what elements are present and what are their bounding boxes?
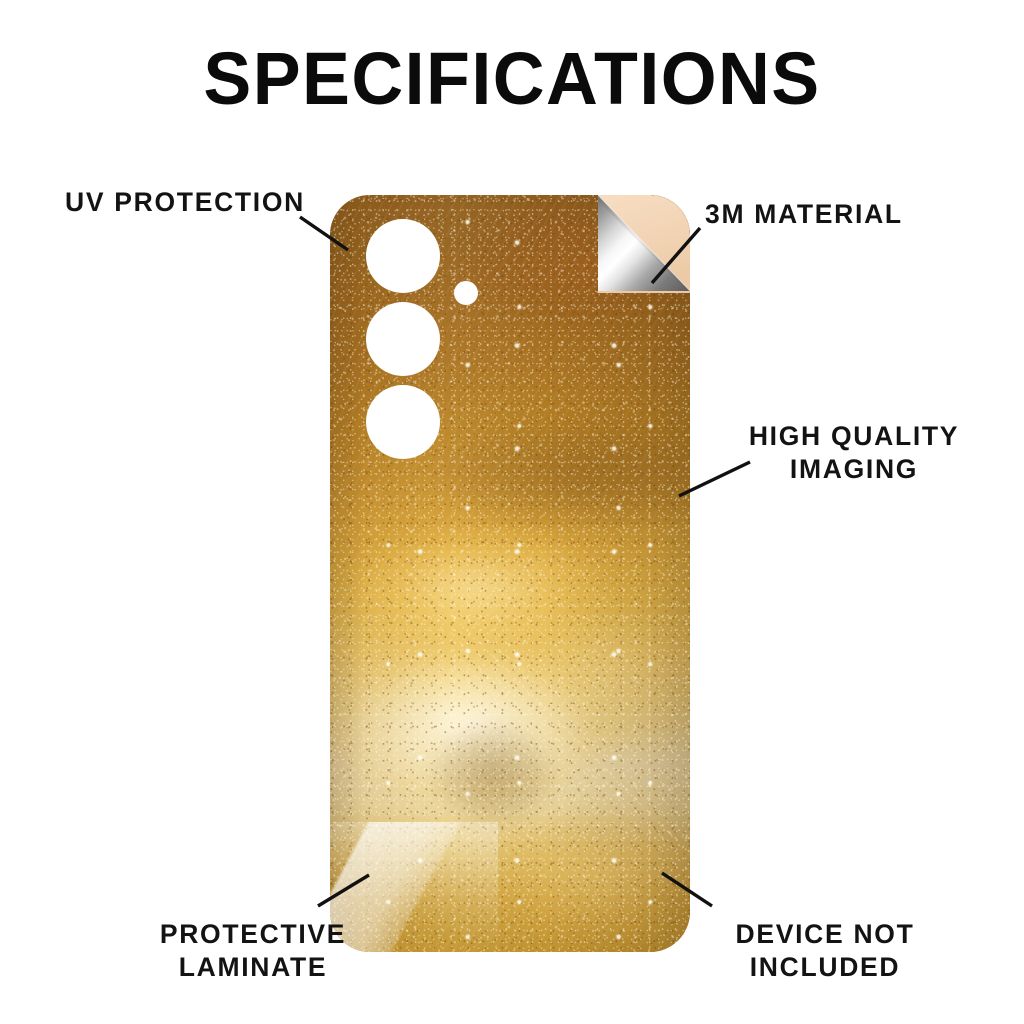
camera-cutout-lens-1: [366, 219, 440, 293]
camera-cutout-flash: [454, 281, 478, 305]
camera-cutout-lens-3: [366, 385, 440, 459]
page-title: SPECIFICATIONS: [15, 42, 1008, 116]
callout-label-protective-laminate: PROTECTIVE LAMINATE: [128, 918, 378, 985]
specifications-infographic: SPECIFICATIONS: [0, 0, 1024, 1024]
camera-cutout-lens-2: [366, 302, 440, 376]
callout-label-3m-material: 3M MATERIAL: [705, 198, 903, 231]
callout-label-uv-protection: UV PROTECTION: [65, 186, 305, 219]
callout-label-high-quality-imaging: HIGH QUALITY IMAGING: [728, 420, 980, 487]
callout-label-device-not-included: DEVICE NOT INCLUDED: [700, 918, 950, 985]
phone-skin-mockup: [330, 195, 690, 952]
